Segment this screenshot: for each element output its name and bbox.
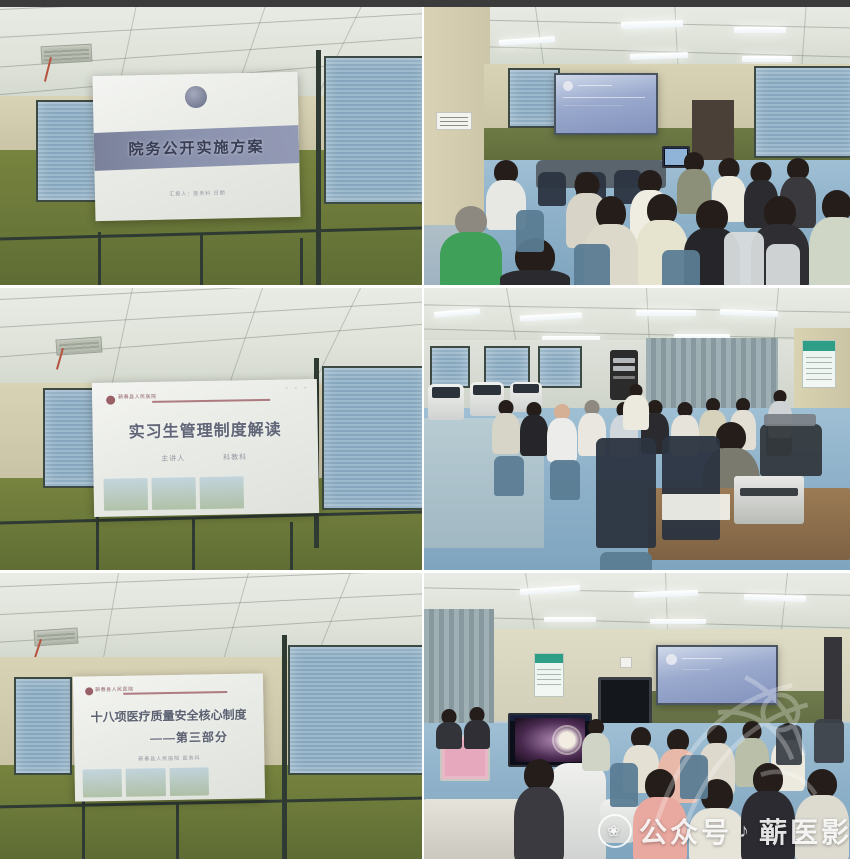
slide-photo-strip [83,767,209,797]
slide-photo-strip [104,476,245,510]
hospital-logo-icon [106,396,115,405]
slide-title: 院务公开实施方案 [94,135,299,160]
chair-row [550,460,580,500]
slide-3: 蕲春县人民医院 ▪ ▪ ▪ 实习生管理制度解读 主讲人 科教科 [92,379,319,517]
collage-grid: 院务公开实施方案 汇报人：医务科 日期 [0,0,850,859]
window-frame-bottom-b [200,235,203,288]
window-frame-bottom-c [300,238,303,288]
hospital-logo-icon [85,687,93,695]
audience-person [442,206,500,288]
audience-person-front [744,763,792,859]
printer [734,476,804,524]
slide-header-dots: ▪ ▪ ▪ [286,385,309,391]
window-blind-left [43,388,99,488]
audience-person-front [636,769,684,859]
collage-panel-top-right[interactable] [424,0,850,288]
ceiling-light-3 [636,310,696,316]
window-blind-left [14,677,72,775]
collage-panel-bottom-right[interactable] [424,573,850,859]
papers-on-desk [662,494,730,520]
slide-subtitle-right: 科教科 [203,452,267,463]
window-frame-bottom-a [98,232,101,288]
projection-screen-blue [656,645,778,705]
national-emblem-icon [184,86,206,108]
window-blind-right [754,66,850,158]
wall-notice-sign [436,112,472,130]
window-blind-back-right [538,346,582,388]
ultrasound-room-lecture-scene [424,288,850,570]
audience-person [812,190,850,288]
meeting-room-scene-2: 蕲春县人民医院 ▪ ▪ ▪ 实习生管理制度解读 主讲人 科教科 [0,288,422,570]
chair-row [600,552,652,573]
slide-footer: 汇报人：医务科 日期 [95,188,300,199]
chair [662,250,700,288]
window-frame-bottom-c [290,522,293,573]
window-frame-bottom-a [96,516,99,573]
chair-foreground-2 [662,436,720,540]
hospital-logo-icon [666,654,677,665]
collage-panel-top-left[interactable]: 院务公开实施方案 汇报人：医务科 日期 [0,0,424,288]
photo-collage: 院务公开实施方案 汇报人：医务科 日期 [0,0,850,859]
hospital-logo-icon [563,81,573,91]
audience-person-with-mask [548,404,576,462]
av-cabinet [760,424,822,476]
watermark-seal-icon [554,727,580,753]
audience-person [624,384,648,430]
window-blind-back [508,68,560,128]
chair [516,210,544,252]
ceiling-light-5 [650,619,706,624]
slide-1: 院务公开实施方案 汇报人：医务科 日期 [93,72,301,221]
window-blind-right [288,645,424,775]
collage-panel-bottom-left[interactable]: 蕲春县人民医院 十八项医疗质量安全核心制度 ——第三部分 蕲春县人民医院 医务科 [0,573,424,859]
slide-5: 蕲春县人民医院 十八项医疗质量安全核心制度 ——第三部分 蕲春县人民医院 医务科 [73,673,265,801]
slide-subtitle: ——第三部分 [114,727,264,747]
window-blind-left [36,100,98,202]
collage-panel-middle-right[interactable] [424,288,850,573]
ceiling-light-4 [734,27,786,33]
ceiling-light-4 [544,617,596,622]
chair [814,719,844,763]
projection-screen: 蕲春县人民医院 ▪ ▪ ▪ 实习生管理制度解读 主讲人 科教科 [92,379,319,517]
audience-person [436,709,462,749]
collage-panel-middle-left[interactable]: 蕲春县人民医院 ▪ ▪ ▪ 实习生管理制度解读 主讲人 科教科 [0,288,424,573]
audience-person [492,400,520,454]
slide-title: 实习生管理制度解读 [92,415,317,443]
projection-screen-blue [554,73,658,135]
window-blind-back-left [430,346,470,388]
audience-person [464,707,490,749]
projection-screen: 院务公开实施方案 汇报人：医务科 日期 [93,72,301,221]
slide-footer: 蕲春县人民医院 医务科 [74,753,264,763]
meeting-room-scene-3: 蕲春县人民医院 十八项医疗质量安全核心制度 ——第三部分 蕲春县人民医院 医务科 [0,573,422,859]
wall-poster [802,340,836,388]
slide-header-rule [152,399,270,403]
projector-stand [764,414,816,426]
slide-title: 十八项医疗质量安全核心制度 [73,705,263,725]
window-blind-right [322,366,424,510]
lecture-audience-scene [424,0,850,285]
chair-row [494,456,524,496]
wall-poster [534,653,564,697]
chair-back-row-1 [538,172,566,206]
window-frame-bottom-b [176,804,179,859]
chair [724,232,764,288]
wall-switch [620,657,632,668]
top-dark-band [0,0,850,7]
chair-foreground-1 [596,438,656,548]
audience-person-front [798,769,846,859]
ultrasound-machine-1 [428,384,464,420]
chair [680,755,708,799]
chair [574,244,610,288]
audience-person [582,719,610,771]
slide-subtitle-left: 主讲人 [145,453,201,464]
window-frame-bottom-a [82,801,85,859]
chair [610,763,638,807]
projection-screen: 蕲春县人民医院 十八项医疗质量安全核心制度 ——第三部分 蕲春县人民医院 医务科 [73,673,265,801]
window-blind-right [324,56,424,204]
slide-header-rule [123,691,227,695]
window-mullion-vertical [282,635,287,859]
window-mullion-vertical [316,50,321,288]
ultrasound-reading-room-scene [424,573,850,859]
audience-person-seated-front [516,759,562,859]
window-frame-bottom-b [192,519,195,573]
chair [776,725,802,765]
slide-header-org: 蕲春县人民医院 [118,393,157,401]
chair [766,244,800,288]
meeting-room-scene-1: 院务公开实施方案 汇报人：医务科 日期 [0,0,422,285]
audience-person [520,402,548,456]
ceiling-light-5 [742,56,792,62]
